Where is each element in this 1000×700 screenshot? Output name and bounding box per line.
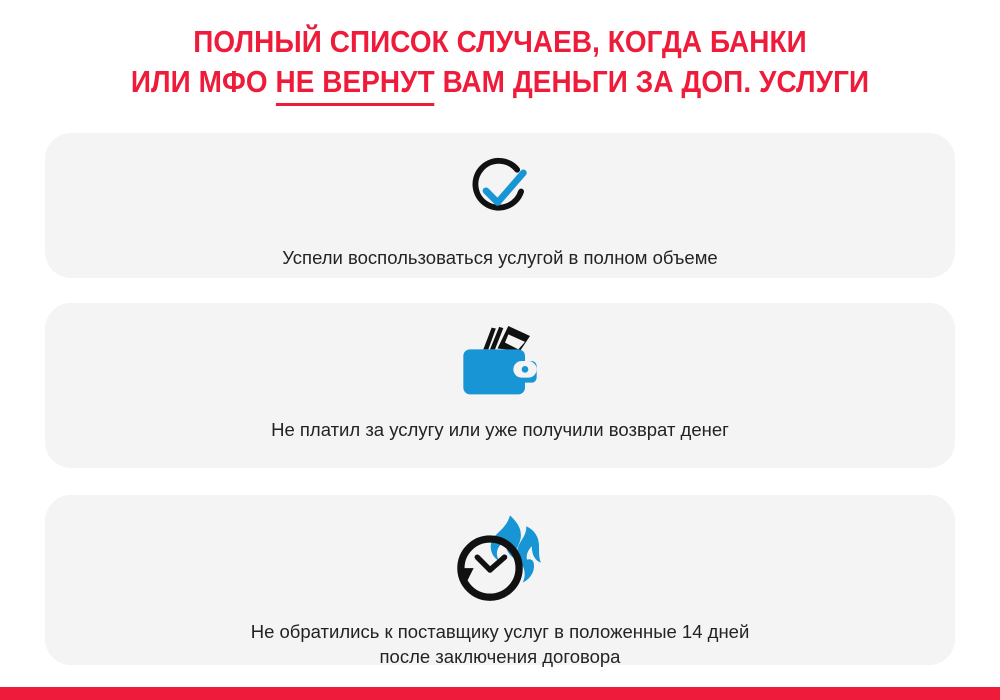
wallet-icon — [457, 321, 543, 401]
footer-accent-bar — [0, 687, 1000, 700]
case-card-3-text: Не обратились к поставщику услуг в полож… — [251, 619, 750, 669]
page-title-line-2-suffix: ВАМ ДЕНЬГИ ЗА ДОП. УСЛУГИ — [435, 64, 869, 99]
case-card-3-text-line-2: после заключения договора — [251, 644, 750, 669]
burning-clock-icon — [450, 511, 550, 607]
case-card-3: Не обратились к поставщику услуг в полож… — [45, 495, 955, 665]
page-title-emphasis: НЕ ВЕРНУТ — [275, 64, 434, 106]
page-title-line-2: ИЛИ МФО НЕ ВЕРНУТ ВАМ ДЕНЬГИ ЗА ДОП. УСЛ… — [50, 62, 950, 102]
page-title-line-1: ПОЛНЫЙ СПИСОК СЛУЧАЕВ, КОГДА БАНКИ — [50, 22, 950, 62]
cases-list: Успели воспользоваться услугой в полном … — [45, 133, 955, 665]
page-title-line-2-prefix: ИЛИ МФО — [131, 64, 276, 99]
case-card-1-text: Успели воспользоваться услугой в полном … — [282, 245, 717, 270]
page-title: ПОЛНЫЙ СПИСОК СЛУЧАЕВ, КОГДА БАНКИ ИЛИ М… — [0, 22, 1000, 102]
case-card-3-text-line-1: Не обратились к поставщику услуг в полож… — [251, 619, 750, 644]
case-card-2-text: Не платил за услугу или уже получили воз… — [271, 417, 729, 442]
case-card-1: Успели воспользоваться услугой в полном … — [45, 133, 955, 278]
case-card-2: Не платил за услугу или уже получили воз… — [45, 303, 955, 468]
check-circle-icon — [461, 151, 539, 229]
